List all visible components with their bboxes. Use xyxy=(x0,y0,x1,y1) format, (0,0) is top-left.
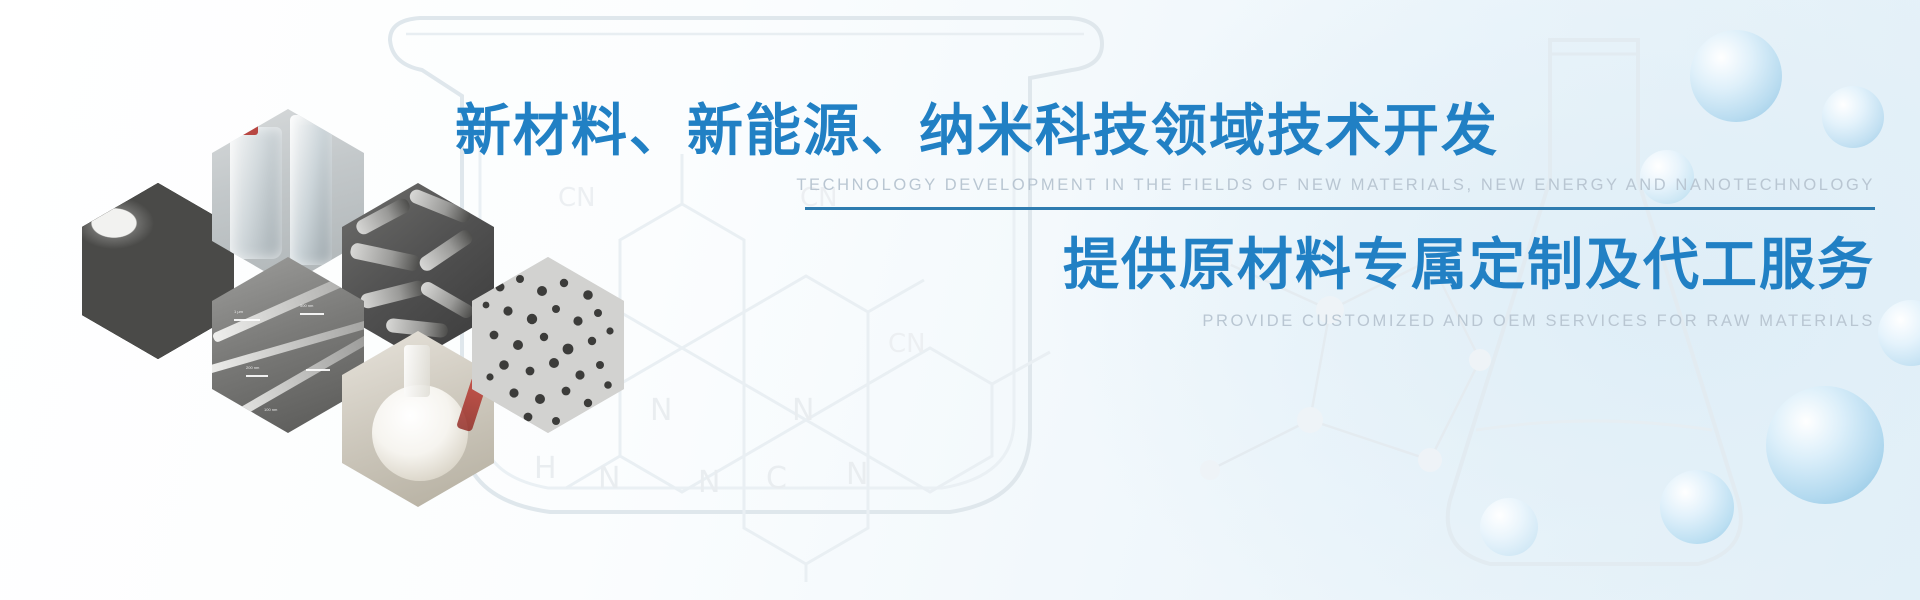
svg-text:CN: CN xyxy=(888,329,926,359)
bottle-cap-white xyxy=(298,109,314,125)
banner-text-block: 新材料、新能源、纳米科技领域技术开发 TECHNOLOGY DEVELOPMEN… xyxy=(455,100,1875,331)
molecule-sphere xyxy=(1480,498,1538,556)
scalebar-tick xyxy=(234,319,260,321)
molecule-sphere xyxy=(1660,470,1734,544)
scalebar-tick xyxy=(246,375,268,377)
primary-subtitle: TECHNOLOGY DEVELOPMENT IN THE FIELDS OF … xyxy=(455,176,1875,195)
secondary-subtitle: PROVIDE CUSTOMIZED AND OEM SERVICES FOR … xyxy=(455,312,1875,331)
tem-porous-structure-image xyxy=(82,183,234,359)
white-powder-flask-image xyxy=(342,331,494,507)
svg-text:N: N xyxy=(698,465,720,500)
gallery-hex-white-powder[interactable] xyxy=(342,331,494,507)
hero-banner: CN CN CN N N H N N C N xyxy=(0,0,1920,600)
molecule-sphere xyxy=(1878,300,1920,366)
svg-text:C: C xyxy=(766,461,787,496)
scale-label: 1 µm xyxy=(234,309,243,314)
scalebar-tick xyxy=(300,313,324,315)
scale-label: 100 nm xyxy=(264,407,277,412)
gallery-hex-tem-porous[interactable] xyxy=(82,183,234,359)
horizontal-divider xyxy=(805,207,1875,210)
svg-text:N: N xyxy=(650,393,672,428)
sem-nanofibers-image: 1 µm 500 nm 200 nm 100 nm xyxy=(212,257,364,433)
secondary-headline: 提供原材料专属定制及代工服务 xyxy=(455,234,1875,298)
svg-text:N: N xyxy=(792,393,814,428)
scale-label: 200 nm xyxy=(246,365,259,370)
molecule-sphere xyxy=(1766,386,1884,504)
scale-label: 500 nm xyxy=(300,303,313,308)
primary-headline: 新材料、新能源、纳米科技领域技术开发 xyxy=(455,100,1875,164)
bottle-cap-red xyxy=(238,115,258,135)
svg-text:N: N xyxy=(846,457,868,492)
divider-row xyxy=(455,207,1875,210)
scalebar-tick xyxy=(306,369,330,371)
gallery-hex-sem-nanofibers[interactable]: 1 µm 500 nm 200 nm 100 nm xyxy=(212,257,364,433)
